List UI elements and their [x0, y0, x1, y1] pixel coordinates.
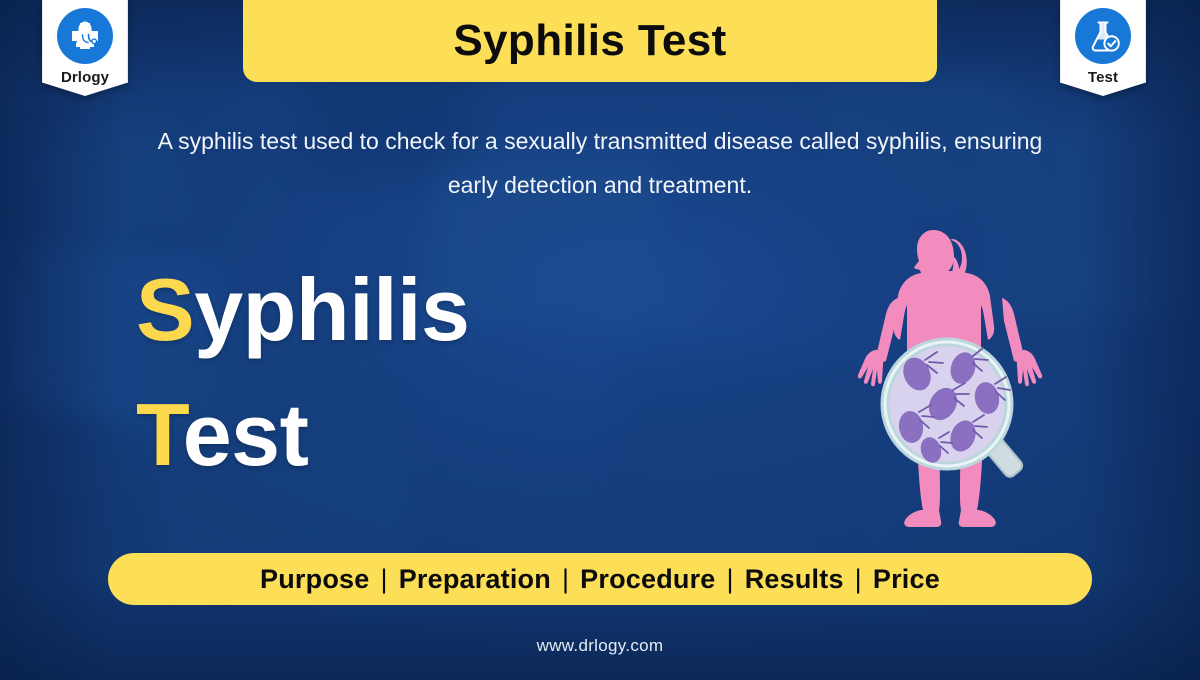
brand-badge-label: Drlogy — [61, 69, 109, 86]
subtitle-text: A syphilis test used to check for a sexu… — [140, 120, 1060, 207]
headline-line-2-cap: T — [136, 385, 183, 484]
test-badge: Test — [1060, 0, 1146, 96]
title-banner: Syphilis Test — [243, 0, 937, 82]
headline: Syphilis Test — [136, 248, 469, 498]
headline-line-1: Syphilis — [136, 248, 469, 373]
brand-badge-ribbon: Drlogy — [42, 0, 128, 96]
poster-canvas: Drlogy Test Syphilis Test A syphilis tes… — [0, 0, 1200, 680]
headline-line-1-cap: S — [136, 260, 194, 359]
pill-item-purpose[interactable]: Purpose — [258, 564, 371, 595]
headline-line-1-rest: yphilis — [194, 260, 469, 359]
topics-pill-bar: Purpose | Preparation | Procedure | Resu… — [108, 553, 1092, 605]
pill-separator: | — [553, 564, 578, 595]
headline-line-2: Test — [136, 373, 469, 498]
brand-badge-drlogy: Drlogy — [42, 0, 128, 96]
pill-separator: | — [718, 564, 743, 595]
page-title: Syphilis Test — [453, 19, 726, 63]
pill-item-results[interactable]: Results — [743, 564, 846, 595]
footer-website[interactable]: www.drlogy.com — [0, 636, 1200, 656]
pill-item-preparation[interactable]: Preparation — [397, 564, 553, 595]
illustration-female-magnifier — [855, 222, 1045, 542]
test-badge-ribbon: Test — [1060, 0, 1146, 96]
doctor-stethoscope-icon — [57, 8, 113, 64]
pill-separator: | — [846, 564, 871, 595]
pill-separator: | — [371, 564, 396, 595]
headline-line-2-rest: est — [183, 385, 309, 484]
flask-check-icon — [1075, 8, 1131, 64]
pill-item-price[interactable]: Price — [871, 564, 942, 595]
test-badge-label: Test — [1088, 69, 1118, 86]
pill-item-procedure[interactable]: Procedure — [578, 564, 717, 595]
magnifier-lens — [885, 342, 1010, 466]
